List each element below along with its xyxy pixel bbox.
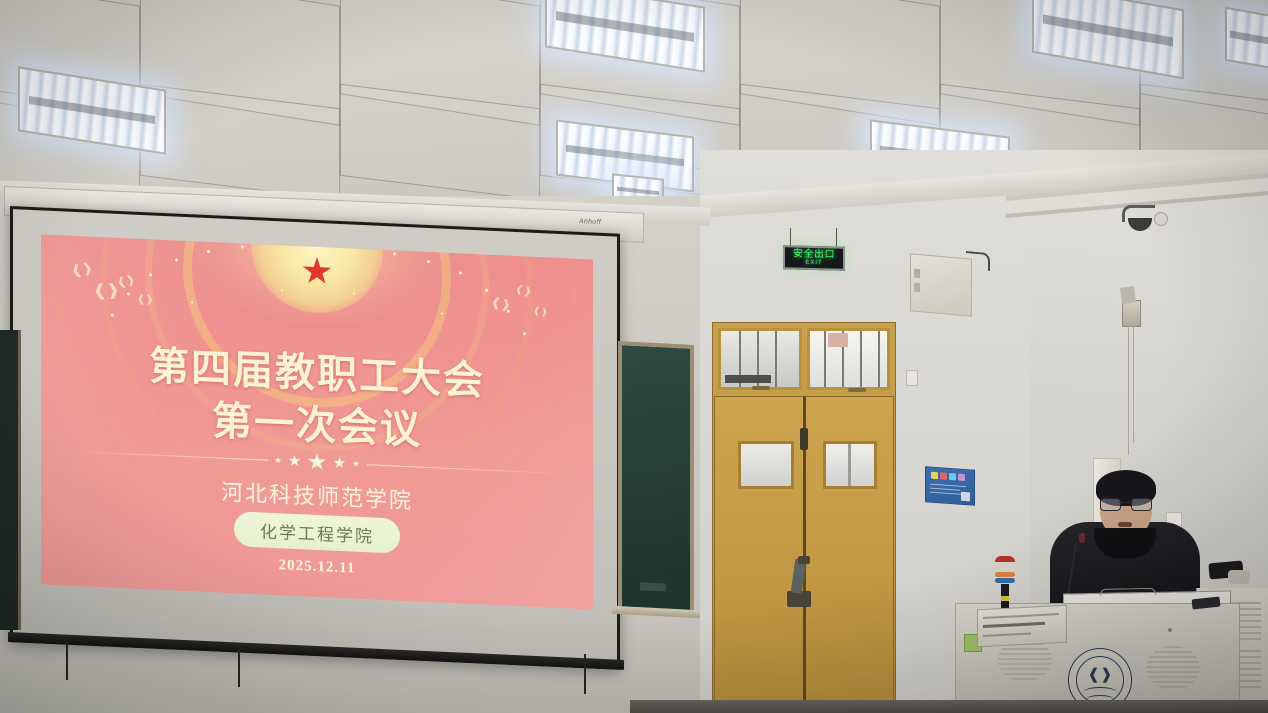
desk-figurine	[993, 558, 1017, 610]
chalk-eraser	[640, 582, 666, 591]
conference-room-photo: Anhoff	[0, 0, 1268, 713]
dove-icon: ❰❱	[70, 261, 94, 277]
projection-screen: ❰❱ ❰❱ ❰❱ ❰❱ ❰❱ ❰❱ ❰❱ 第四届教职工大会 第一次会议 河北科技…	[10, 206, 620, 670]
information-placard	[925, 466, 975, 505]
dove-icon: ❰❱	[514, 284, 533, 298]
wall-speaker-unit	[910, 253, 972, 316]
divider-star-icon	[289, 455, 301, 468]
podium-speaker-grille	[1146, 646, 1200, 690]
door-handle[interactable]	[787, 591, 811, 607]
nameplate-holder	[977, 605, 1067, 648]
divider-star-icon	[275, 457, 282, 464]
transom-handle[interactable]	[848, 388, 866, 392]
slide-department-badge: 化学工程学院	[234, 511, 400, 554]
exit-sign-hanger	[836, 228, 837, 248]
dove-icon: ❰❱	[116, 274, 137, 289]
red-star-icon	[302, 256, 332, 286]
door-transom	[718, 328, 890, 390]
screen-brand-label: Anhoff	[579, 218, 601, 226]
divider-star-icon	[353, 460, 360, 467]
floor	[630, 700, 1268, 713]
divider-star-icon	[334, 457, 346, 470]
hanging-wire	[1128, 325, 1129, 455]
door-viewing-window	[738, 441, 794, 489]
dove-icon: ❰❱	[92, 283, 120, 301]
exit-sign-chinese: 安全出口	[793, 249, 835, 260]
chalkboard	[618, 341, 694, 615]
exit-sign-english: EXIT	[805, 260, 822, 266]
camera-sensor-icon	[1154, 212, 1168, 226]
emblem-bird-icon: ❰❱	[1087, 667, 1112, 682]
divider-star-icon	[308, 453, 327, 472]
screen-hook	[584, 654, 586, 694]
presentation-slide: ❰❱ ❰❱ ❰❱ ❰❱ ❰❱ ❰❱ ❰❱ 第四届教职工大会 第一次会议 河北科技…	[41, 234, 593, 609]
transom-handle[interactable]	[752, 386, 770, 390]
chalkboard-left-edge	[0, 330, 21, 630]
transom-pane	[807, 328, 891, 390]
dove-icon: ❰❱	[490, 295, 512, 311]
presenter-mouth	[1118, 522, 1132, 527]
transom-pane	[718, 328, 802, 390]
speaker-cable	[966, 251, 990, 271]
dove-icon: ❰❱	[533, 306, 549, 317]
dove-icon: ❰❱	[137, 295, 154, 305]
ceiling-light-panel	[1225, 7, 1268, 72]
glasses-icon	[1100, 498, 1152, 509]
microphone-head-icon	[1079, 533, 1085, 543]
exit-sign: 安全出口 EXIT	[783, 245, 845, 271]
door-latch	[798, 556, 810, 564]
electrical-box	[1122, 300, 1141, 327]
wire-bracket	[1120, 286, 1136, 304]
slide-date: 2025.12.11	[41, 546, 593, 588]
door-hinge	[800, 428, 808, 450]
screen-hook	[238, 645, 240, 687]
hanging-wire	[1133, 325, 1134, 443]
screen-hook	[66, 640, 68, 680]
door-viewing-window	[823, 441, 877, 489]
thermos-on-cabinet	[1228, 570, 1250, 584]
door-sensor	[906, 370, 918, 386]
